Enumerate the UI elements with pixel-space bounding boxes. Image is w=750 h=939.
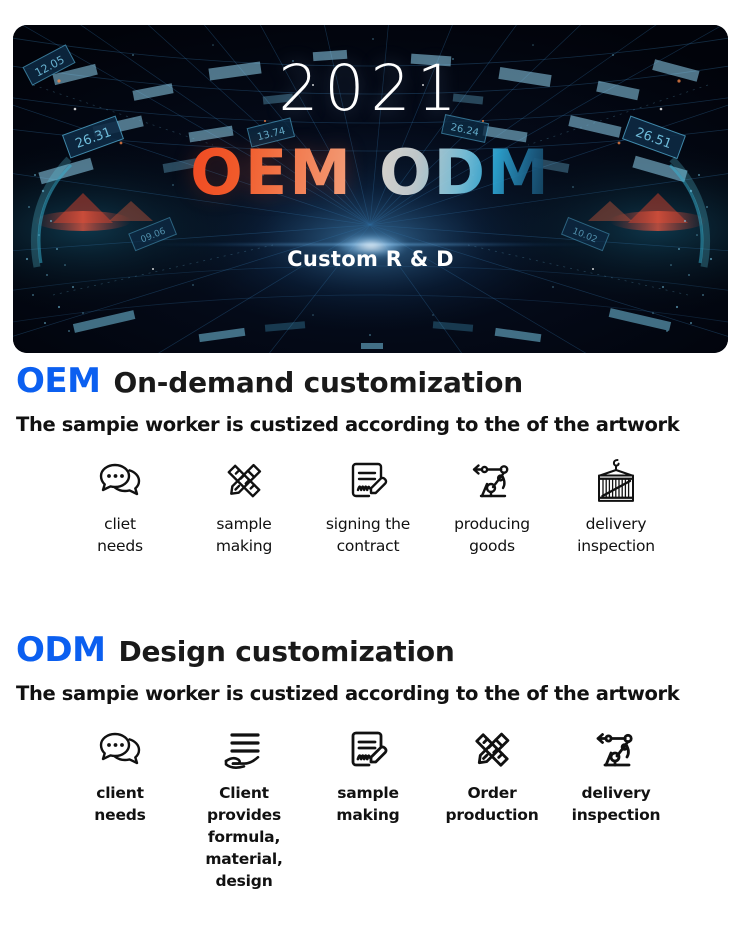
pencil-ruler-icon xyxy=(471,727,513,773)
crate-hook-icon xyxy=(594,458,638,504)
oem-title: On-demand customization xyxy=(113,369,523,397)
oem-step-label: sample making xyxy=(216,513,272,557)
banner-subtitle: Custom R & D xyxy=(13,247,728,271)
odm-subtitle: The sampie worker is custized according … xyxy=(0,682,750,705)
signed-contract-icon xyxy=(348,727,388,773)
hero-banner: 26.31 26.51 12.05 13.74 xyxy=(13,25,728,353)
odm-step-delivery-inspection: delivery inspection xyxy=(554,727,678,826)
oem-step-signing-contract: signing the contract xyxy=(306,458,430,557)
oem-step-label: cliet needs xyxy=(97,513,143,557)
pencil-ruler-icon xyxy=(223,458,265,504)
oem-step-label: signing the contract xyxy=(326,513,410,557)
oem-step-delivery-inspection: delivery inspection xyxy=(554,458,678,557)
oem-step-producing-goods: producing goods xyxy=(430,458,554,557)
odm-step-client-needs: client needs xyxy=(58,727,182,826)
odm-title: Design customization xyxy=(118,638,454,666)
odm-step-sample-making: sample making xyxy=(306,727,430,826)
oem-step-sample-making: sample making xyxy=(182,458,306,557)
banner-year: 2021 xyxy=(278,57,462,120)
section-odm: ODM Design customization The sampie work… xyxy=(0,633,750,892)
odm-tag: ODM xyxy=(16,633,105,667)
odm-step-label: client needs xyxy=(94,782,145,826)
chat-bubbles-icon xyxy=(97,727,143,773)
robot-arm-icon xyxy=(593,727,639,773)
oem-step-label: producing goods xyxy=(454,513,530,557)
odm-step-label: Client provides formula, material, desig… xyxy=(182,782,306,892)
hand-documents-icon xyxy=(221,727,267,773)
section-oem: OEM On-demand customization The sampie w… xyxy=(0,364,750,557)
odm-step-list: client needs Client provides formula, ma… xyxy=(0,727,750,892)
promo-page: 26.31 26.51 12.05 13.74 xyxy=(0,0,750,939)
oem-step-list: cliet needs xyxy=(0,458,750,557)
oem-step-client-needs: cliet needs xyxy=(58,458,182,557)
oem-tag: OEM xyxy=(16,364,100,398)
banner-text-stack: 2021 OEM ODM xyxy=(13,25,728,353)
oem-heading: OEM On-demand customization xyxy=(0,364,750,398)
odm-step-label: Order production xyxy=(445,782,538,826)
odm-step-label: sample making xyxy=(336,782,399,826)
signed-contract-icon xyxy=(348,458,388,504)
chat-bubbles-icon xyxy=(97,458,143,504)
banner-odm-word: ODM xyxy=(379,142,551,204)
oem-subtitle: The sampie worker is custized according … xyxy=(0,413,750,436)
banner-oem-odm-wordmark: OEM ODM xyxy=(190,142,551,204)
odm-step-label: delivery inspection xyxy=(572,782,661,826)
oem-step-label: delivery inspection xyxy=(577,513,655,557)
odm-step-client-provides: Client provides formula, material, desig… xyxy=(182,727,306,892)
banner-oem-word: OEM xyxy=(190,142,353,204)
odm-step-order-production: Order production xyxy=(430,727,554,826)
robot-arm-icon xyxy=(469,458,515,504)
odm-heading: ODM Design customization xyxy=(0,633,750,667)
